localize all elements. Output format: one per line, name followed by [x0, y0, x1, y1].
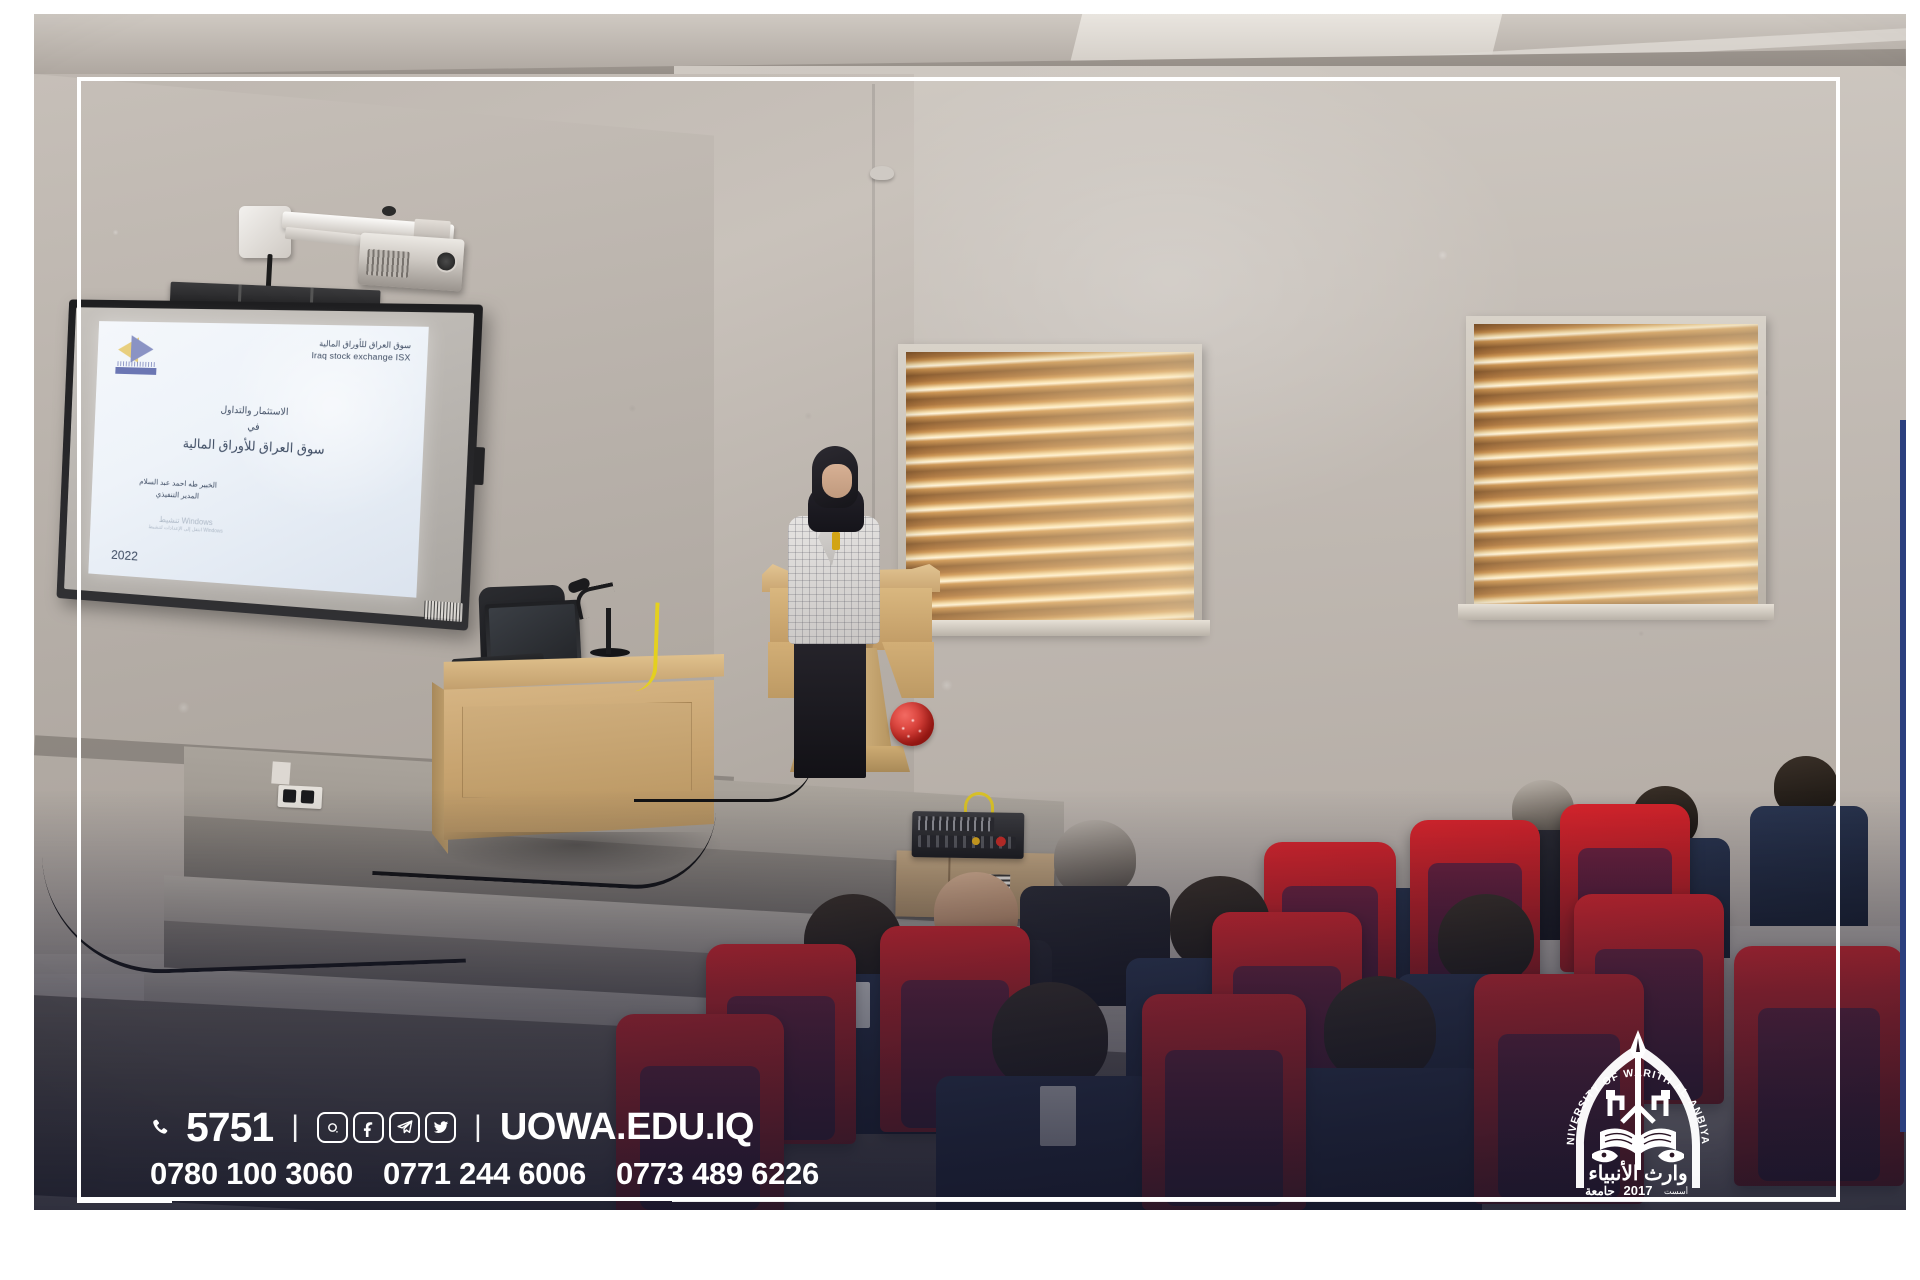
- auditorium-seat: [1734, 946, 1904, 1186]
- facebook-icon[interactable]: [353, 1112, 384, 1143]
- logo-year: 2017: [1624, 1183, 1653, 1196]
- presenter-badge: [832, 532, 840, 550]
- projector-vent: [366, 249, 410, 278]
- window-right: [1466, 316, 1766, 616]
- window-left: [898, 344, 1202, 634]
- ceiling-projector: [357, 232, 464, 291]
- seat-cushion: [1758, 1008, 1880, 1181]
- projector-lens-icon: [434, 250, 457, 273]
- audience-head: [992, 982, 1108, 1090]
- isx-logo-bar: [115, 367, 156, 375]
- interactive-whiteboard: سوق العراق للأوراق المالية Iraq stock ex…: [56, 299, 483, 630]
- socket-plug: [283, 789, 297, 803]
- contact-bar: 5751 |: [150, 1104, 819, 1192]
- audience-body: [1750, 806, 1868, 926]
- presenter-skirt: [794, 636, 866, 778]
- audience-head-gray: [1054, 820, 1136, 896]
- wall-socket-tag: [271, 761, 290, 784]
- mixer-gain-knob[interactable]: [972, 837, 980, 845]
- instagram-icon[interactable]: [317, 1112, 348, 1143]
- zebra-blinds: [906, 352, 1194, 626]
- zebra-blinds: [1474, 324, 1758, 608]
- contact-primary-row: 5751 |: [150, 1104, 819, 1150]
- whiteboard-barcode-label: [424, 600, 463, 622]
- phone-number-3[interactable]: 0773 489 6226: [616, 1156, 819, 1192]
- windows-activation-watermark: تنشيط Windows انتقل إلى الإعدادات لتنشيط…: [110, 511, 263, 538]
- red-ball: [890, 702, 934, 746]
- twitter-icon[interactable]: [425, 1112, 456, 1143]
- audience-head: [1324, 976, 1436, 1082]
- slide-year: 2022: [111, 547, 138, 563]
- website-url[interactable]: UOWA.EDU.IQ: [500, 1108, 754, 1146]
- frame-tick-right: [672, 1199, 1840, 1202]
- projector-mount-knob: [382, 206, 396, 216]
- contact-phone-row: 0780 100 3060 0771 244 6006 0773 489 622…: [150, 1156, 819, 1192]
- audio-mixer[interactable]: [912, 811, 1025, 859]
- microphone-stem: [606, 608, 611, 654]
- contact-separator-2: |: [472, 1110, 484, 1144]
- window-sill: [1458, 604, 1774, 620]
- audience-shirt-collar: [1040, 1086, 1076, 1146]
- isx-logo-icon: [115, 333, 158, 377]
- wall-power-socket[interactable]: [277, 785, 322, 809]
- presentation-slide: سوق العراق للأوراق المالية Iraq stock ex…: [88, 321, 428, 598]
- phone-number-1[interactable]: 0780 100 3060: [150, 1156, 353, 1192]
- poster-canvas: سوق العراق للأوراق المالية Iraq stock ex…: [0, 0, 1920, 1280]
- mixer-faders[interactable]: [918, 816, 994, 831]
- auditorium-seat: [1142, 994, 1306, 1210]
- seat-cushion: [1165, 1050, 1283, 1206]
- telegram-icon[interactable]: [389, 1112, 420, 1143]
- poster-margin-right: [1906, 0, 1920, 1280]
- slide-author: الخبير طه احمد عبد السلام المدير التنفيذ…: [112, 474, 245, 505]
- socket-plug: [301, 790, 315, 804]
- poster-margin-top: [0, 0, 1920, 14]
- presenter: [774, 446, 882, 776]
- contact-separator-1: |: [289, 1110, 301, 1144]
- whiteboard-surface: سوق العراق للأوراق المالية Iraq stock ex…: [64, 307, 474, 619]
- audience-head: [1438, 894, 1534, 984]
- phone-handset-icon: [150, 1115, 170, 1141]
- slide-title: الاستثمار والتداول في سوق العراق للأوراق…: [94, 398, 425, 466]
- short-phone-number[interactable]: 5751: [186, 1107, 273, 1148]
- whiteboard-side-button[interactable]: [473, 447, 486, 485]
- social-links: [317, 1112, 456, 1143]
- slide-org-name-english: Iraq stock exchange ISX: [311, 350, 411, 364]
- mixer-power-knob[interactable]: [996, 836, 1006, 846]
- smoke-detector-icon: [870, 166, 894, 180]
- poster-margin-left: [0, 0, 34, 1280]
- presenter-face: [822, 464, 852, 498]
- poster-margin-bottom: [0, 1210, 1920, 1280]
- lectern-wing-right: [882, 642, 934, 698]
- university-logo: UNIVERSITY OF WARITH AL-ANBIYAA: [1548, 1028, 1728, 1196]
- frame-tick-left: [77, 1199, 172, 1203]
- isx-logo-arrow-blue: [131, 335, 155, 363]
- phone-number-2[interactable]: 0771 244 6006: [383, 1156, 586, 1192]
- logo-arc-text: UNIVERSITY OF WARITH AL-ANBIYAA: [1548, 1028, 1711, 1145]
- logo-arabic-sub: جامعة: [1585, 1184, 1615, 1196]
- svg-text:UNIVERSITY OF WARITH AL-ANBIYA: UNIVERSITY OF WARITH AL-ANBIYAA: [1548, 1028, 1711, 1145]
- logo-founded-label: أسست: [1664, 1185, 1688, 1196]
- slide-org-header: سوق العراق للأوراق المالية Iraq stock ex…: [311, 339, 411, 364]
